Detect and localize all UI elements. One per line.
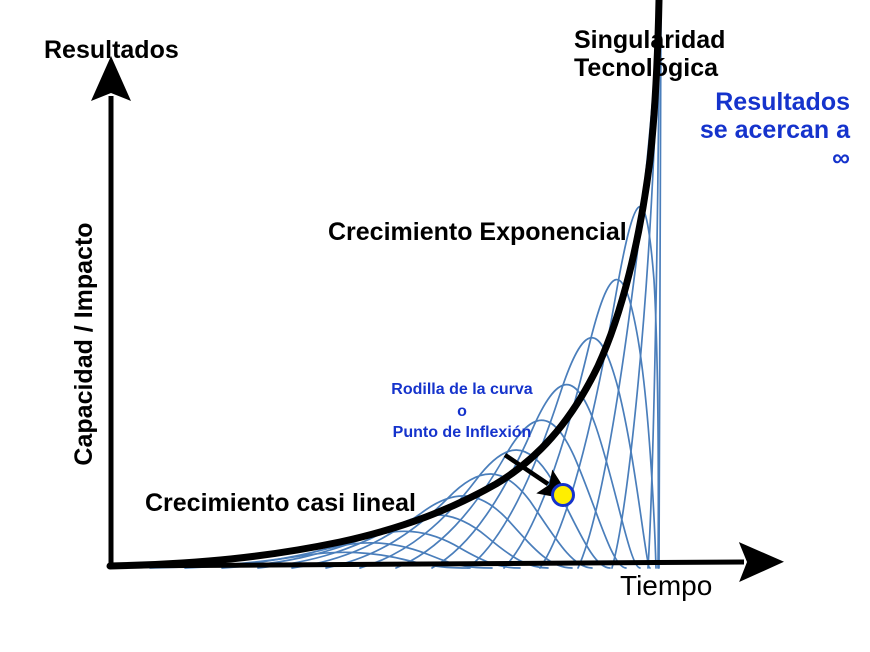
infinity-annotation: Resultados se acercan a ∞: [700, 88, 850, 172]
y-axis-title: Capacidad / Impacto: [70, 194, 98, 494]
x-axis-title: Tiempo: [620, 570, 712, 601]
inflection-point-marker: [553, 485, 574, 506]
exponential-envelope-curve: [110, 0, 659, 566]
singularity-diagram: Resultados Capacidad / Impacto Tiempo Si…: [0, 0, 870, 652]
singularity-title: Singularidad Tecnológica: [574, 26, 725, 82]
knee-annotation: Rodilla de la curva o Punto de Inflexión: [352, 379, 572, 444]
exponential-growth-label: Crecimiento Exponencial: [328, 218, 627, 246]
linear-growth-label: Crecimiento casi lineal: [145, 489, 416, 517]
y-axis-top-label: Resultados: [44, 36, 179, 64]
technology-cycle-curves: [150, 0, 661, 568]
